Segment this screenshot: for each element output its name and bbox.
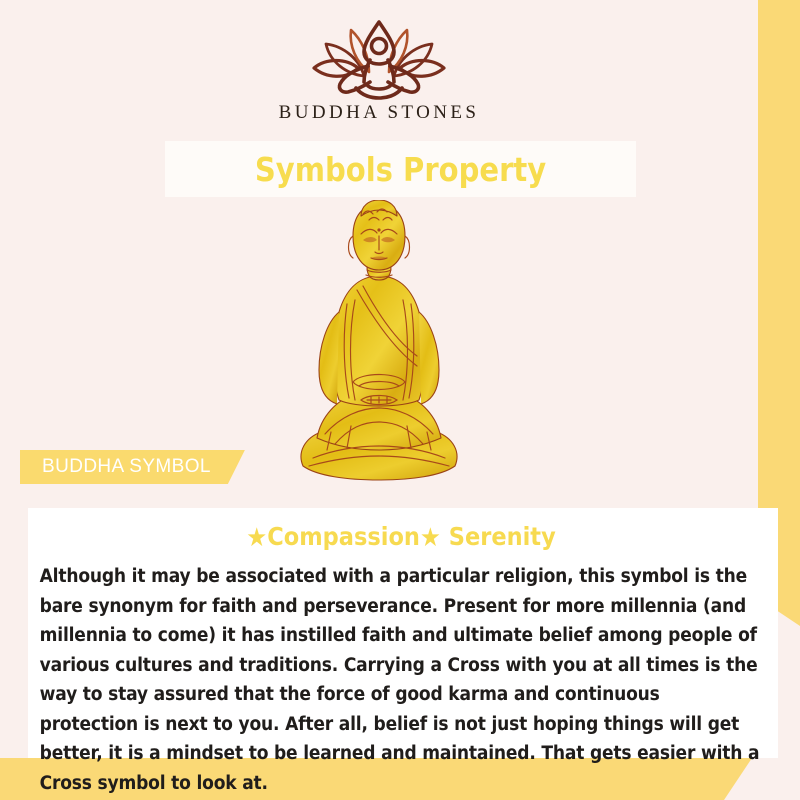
keywords-heading: ★Compassion★ Serenity xyxy=(71,522,732,554)
page-title: Symbols Property xyxy=(255,150,546,189)
hero-image xyxy=(0,200,758,490)
poster-root: BUDDHA STONES Symbols Property xyxy=(0,0,800,800)
seated-buddha-statue-illustration xyxy=(291,200,467,488)
lotus-meditation-icon xyxy=(304,18,454,100)
star-icon: ★ xyxy=(246,523,267,553)
brand-wordmark: BUDDHA STONES xyxy=(279,102,480,124)
body-paragraph: Although it may be associated with a par… xyxy=(34,562,765,798)
section-tag-label: BUDDHA SYMBOL xyxy=(42,456,211,478)
title-banner: Symbols Property xyxy=(165,141,636,197)
star-icon: ★ xyxy=(420,523,441,553)
content-panel: ★Compassion★ Serenity Although it may be… xyxy=(28,508,778,758)
keyword-compassion: Compassion xyxy=(267,522,420,551)
keyword-serenity: Serenity xyxy=(449,522,556,551)
section-tag: BUDDHA SYMBOL xyxy=(20,450,245,484)
brand-logo: BUDDHA STONES xyxy=(0,18,758,124)
